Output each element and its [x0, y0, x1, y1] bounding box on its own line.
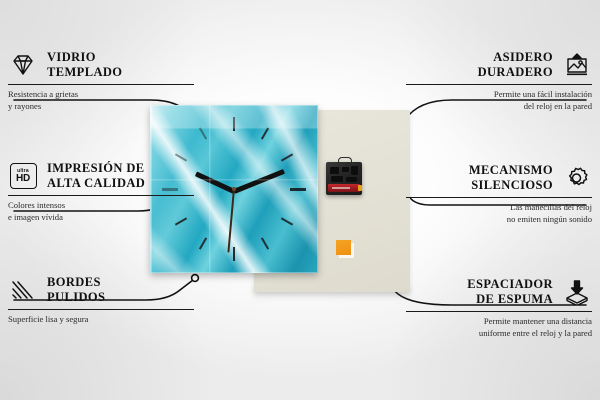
movement-slot-d — [331, 176, 343, 182]
hanger-hook — [338, 157, 352, 164]
movement-slot-c — [351, 166, 358, 175]
feature-title-line1: VIDRIO — [47, 50, 96, 64]
feature-desc-line1: Superficie lisa y segura — [8, 314, 88, 324]
tick-5 — [261, 237, 269, 249]
minute-hand — [233, 169, 285, 194]
feature-title-line2: ALTA CALIDAD — [47, 176, 145, 190]
arrow-onto-layers-icon — [562, 277, 592, 307]
tick-6 — [233, 247, 235, 261]
tick-2 — [281, 153, 293, 161]
second-hand — [228, 191, 235, 253]
feature-desc-line2: uniforme entre el reloj y la pared — [479, 328, 592, 338]
movement-slot-b — [342, 167, 349, 172]
battery-band — [332, 187, 350, 189]
gear-icon — [562, 163, 592, 193]
feature-title-line2: PULIDOS — [47, 290, 105, 304]
feature-desc-line1: Permite mantener una distancia — [484, 316, 592, 326]
hour-hand — [195, 171, 235, 193]
divider — [406, 311, 592, 312]
feature-title-line1: IMPRESIÓN DE — [47, 161, 145, 175]
feature-title-line1: BORDES — [47, 275, 101, 289]
tick-3 — [290, 188, 306, 191]
feature-vidrio-templado: VIDRIO TEMPLADO Resistencia a grietas y … — [8, 50, 194, 112]
feature-bordes-pulidos: BORDES PULIDOS Superficie lisa y segura — [8, 275, 194, 326]
feature-title-line2: TEMPLADO — [47, 65, 122, 79]
tick-4 — [281, 217, 293, 225]
feature-title-line2: SILENCIOSO — [471, 178, 553, 192]
feature-desc-line2: y rayones — [8, 101, 41, 111]
feature-title-line1: ESPACIADOR — [467, 277, 553, 291]
feature-desc-line2: e imagen vívida — [8, 212, 63, 222]
diamond-icon — [8, 50, 38, 80]
quartz-movement — [326, 162, 362, 195]
divider — [8, 309, 194, 310]
divider — [406, 197, 592, 198]
movement-slot-a — [330, 167, 339, 174]
foam-spacer — [336, 240, 351, 255]
divider — [8, 195, 194, 196]
tick-12 — [233, 117, 235, 131]
feature-espaciador-de-espuma: ESPACIADOR DE ESPUMA Permite mantener un… — [406, 277, 592, 339]
clock-center-pin — [232, 187, 236, 191]
feature-mecanismo-silencioso: MECANISMO SILENCIOSO Las manecillas del … — [406, 163, 592, 225]
feature-desc-line2: del reloj en la pared — [524, 101, 592, 111]
feature-title-line1: MECANISMO — [469, 163, 553, 177]
divider — [8, 84, 194, 85]
ultra-hd-icon: ultra HD — [8, 161, 38, 191]
feature-desc-line1: Colores intensos — [8, 200, 65, 210]
feature-desc-line1: Resistencia a grietas — [8, 89, 78, 99]
feature-desc-line1: Las manecillas del reloj — [510, 202, 592, 212]
tick-1 — [261, 127, 269, 139]
picture-frame-icon — [562, 50, 592, 80]
divider — [406, 84, 592, 85]
ultra-hd-icon-main: HD — [16, 174, 30, 184]
battery — [328, 184, 360, 192]
feature-title-line1: ASIDERO — [493, 50, 553, 64]
battery-terminal — [358, 185, 362, 191]
feature-asidero-duradero: ASIDERO DURADERO Permite una fácil insta… — [406, 50, 592, 112]
tick-7 — [199, 237, 207, 249]
movement-slot-e — [346, 177, 357, 182]
feature-impresion-alta-calidad: ultra HD IMPRESIÓN DE ALTA CALIDAD Color… — [8, 161, 194, 223]
feature-desc-line1: Permite una fácil instalación — [494, 89, 592, 99]
tick-11 — [199, 127, 207, 139]
diagonal-lines-icon — [8, 275, 38, 305]
feature-title-line2: DE ESPUMA — [476, 292, 553, 306]
feature-desc-line2: no emiten ningún sonido — [507, 214, 592, 224]
infographic-stage: VIDRIO TEMPLADO Resistencia a grietas y … — [0, 0, 600, 400]
feature-title-line2: DURADERO — [478, 65, 553, 79]
